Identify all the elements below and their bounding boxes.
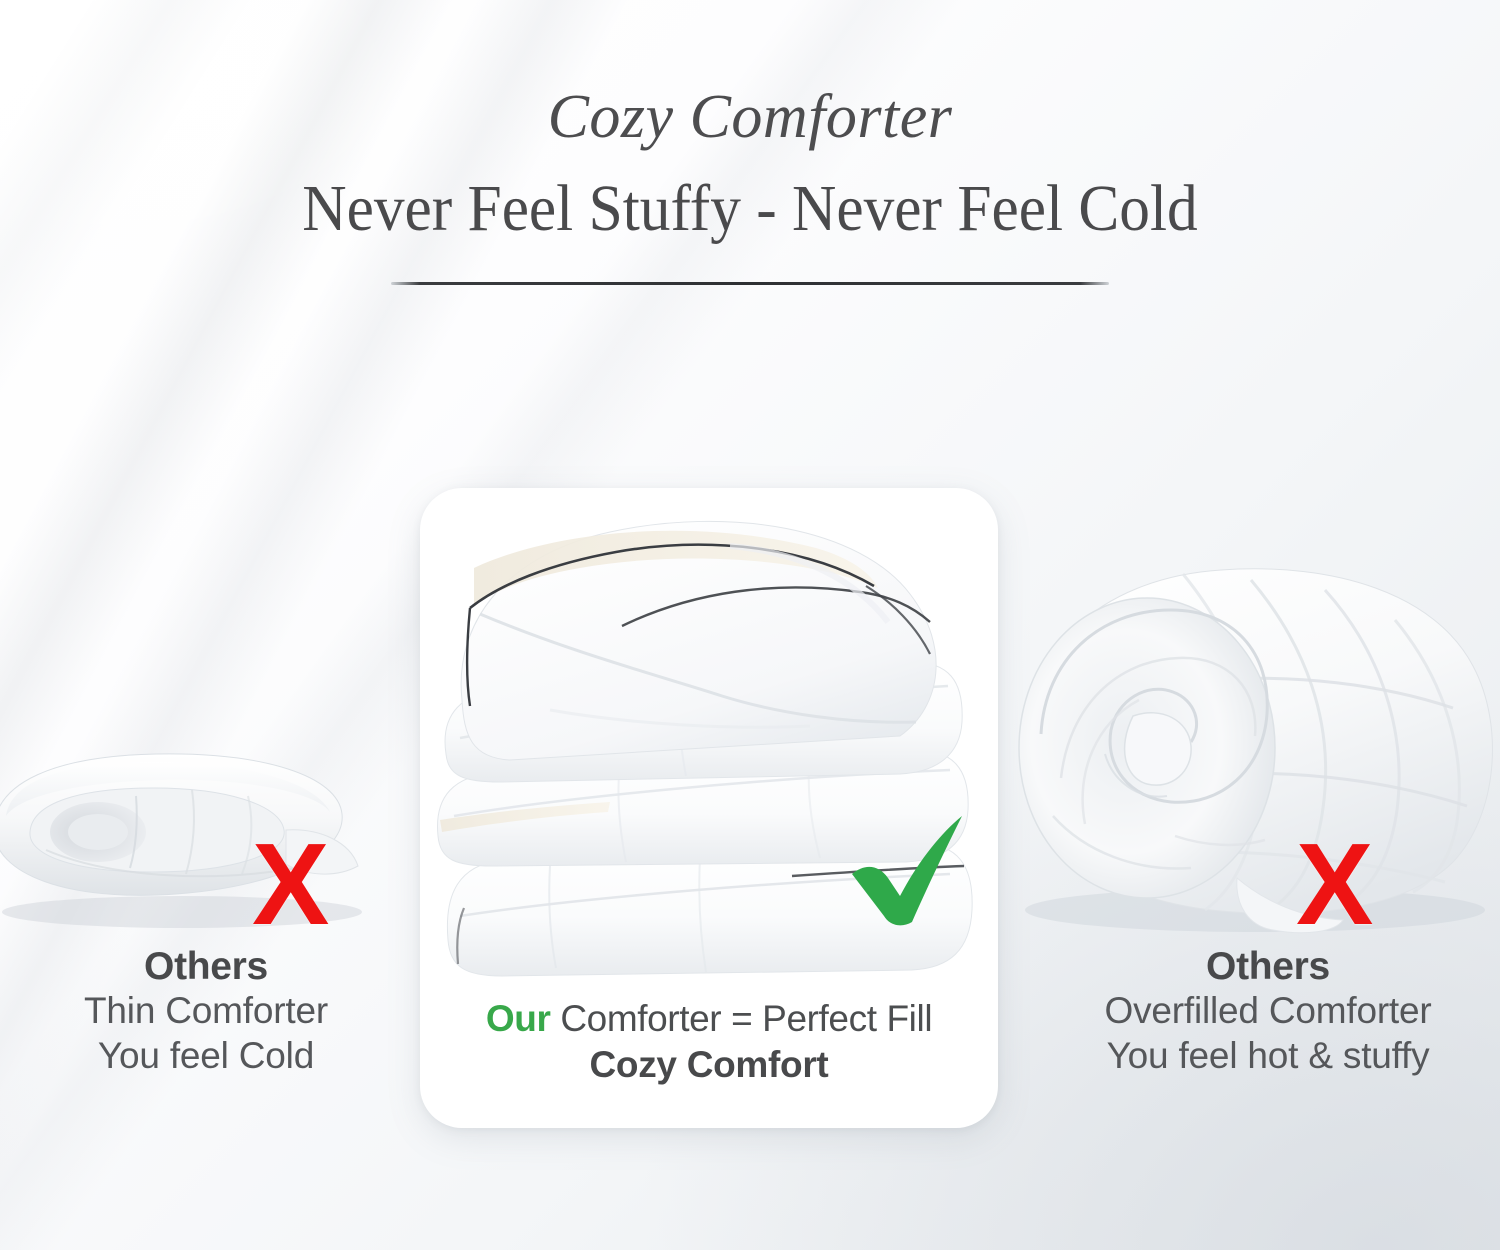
caption-center-line-1: Our Comforter = Perfect Fill	[420, 996, 998, 1041]
caption-right-heading: Others	[1052, 946, 1484, 988]
title-divider	[391, 282, 1109, 285]
caption-left-line-2: You feel Cold	[0, 1033, 412, 1078]
overfilled-comforter-image	[1005, 548, 1500, 938]
caption-center-line-2: Cozy Comfort	[420, 1041, 998, 1089]
caption-left-heading: Others	[0, 946, 412, 988]
caption-center-emphasis: Our	[486, 998, 551, 1039]
caption-left: Others Thin Comforter You feel Cold	[0, 946, 412, 1078]
caption-right-line-2: You feel hot & stuffy	[1052, 1033, 1484, 1078]
page-title: Never Feel Stuffy - Never Feel Cold	[53, 148, 1448, 242]
check-icon	[838, 808, 970, 928]
caption-center-rest: Comforter = Perfect Fill	[550, 998, 932, 1039]
infographic-root: Cozy Comforter Never Feel Stuffy - Never…	[0, 0, 1500, 1250]
caption-right: Others Overfilled Comforter You feel hot…	[1052, 946, 1484, 1078]
cross-icon-left: X	[252, 826, 329, 942]
caption-center: Our Comforter = Perfect Fill Cozy Comfor…	[420, 996, 998, 1089]
cross-icon-right: X	[1296, 826, 1373, 942]
header: Cozy Comforter Never Feel Stuffy - Never…	[0, 0, 1500, 285]
script-title: Cozy Comforter	[0, 0, 1500, 148]
caption-right-line-1: Overfilled Comforter	[1052, 988, 1484, 1033]
caption-left-line-1: Thin Comforter	[0, 988, 412, 1033]
